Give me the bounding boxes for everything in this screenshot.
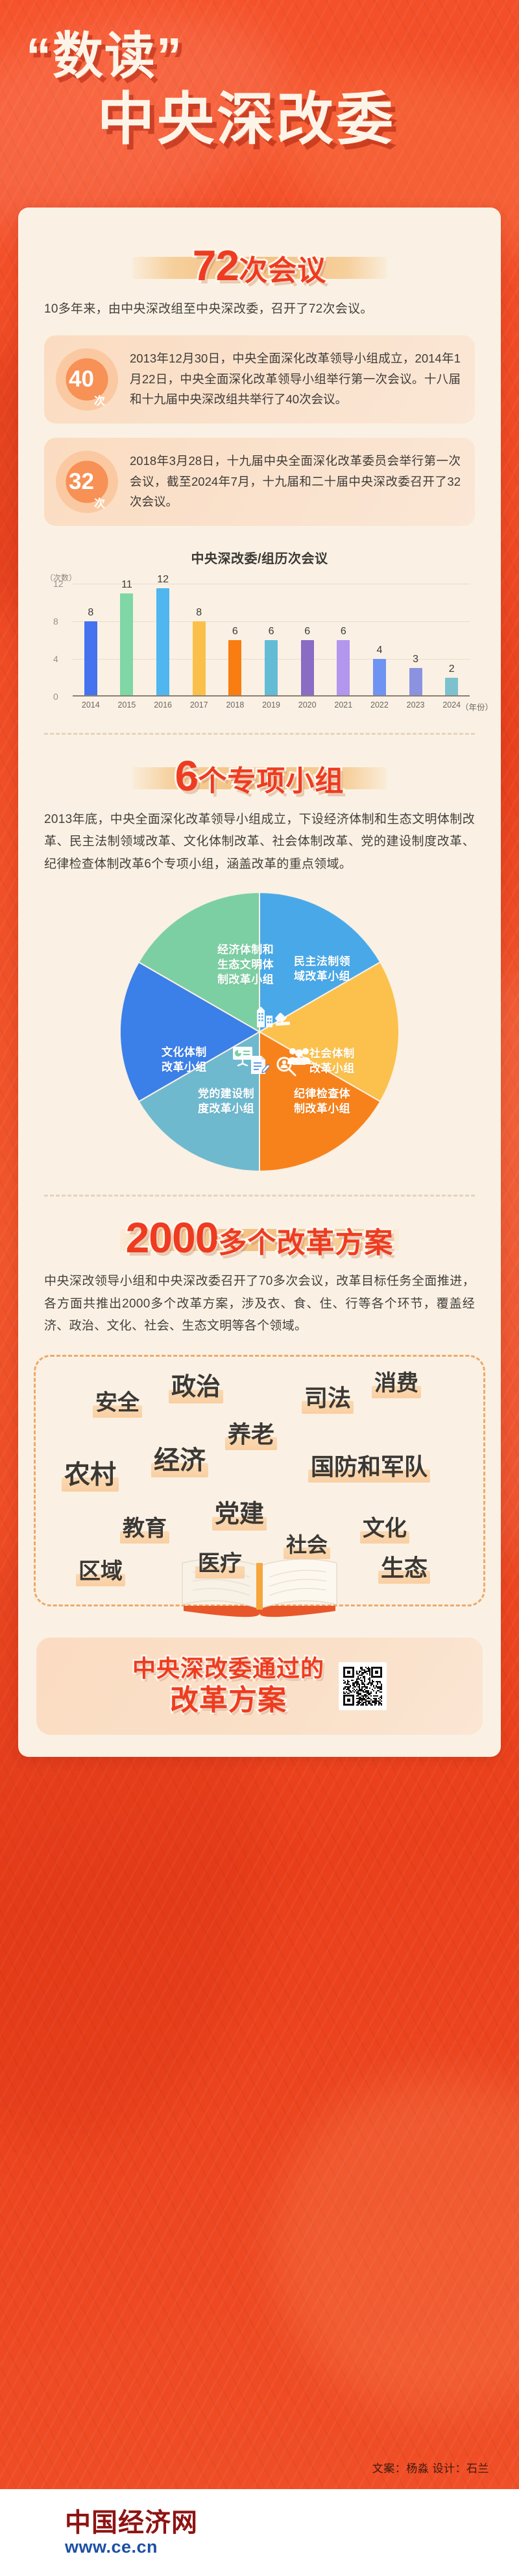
chart-bar <box>120 593 133 697</box>
reform-domain-tag-cloud: 安全政治司法消费养老经济农村国防和军队党建教育文化社会医疗区域生态 <box>34 1355 485 1606</box>
meetings-banner-suffix: 次会议 <box>239 255 326 287</box>
chart-bar <box>409 668 422 696</box>
chart-title: 中央深改委/组历次会议 <box>44 548 475 567</box>
chart-y-tick-label: 4 <box>53 654 58 664</box>
plans-banner-suffix: 多个改革方案 <box>218 1227 393 1259</box>
chart-bar-value-label: 2 <box>449 664 455 674</box>
meetings-paragraph: 10多年来，由中央深改组至中央深改委，召开了72次会议。 <box>44 298 475 321</box>
chart-x-tick-label: 2022 <box>361 700 398 710</box>
chart-bar-slot: 2 <box>433 575 470 697</box>
chart-x-axis-labels: 2014201520162017201820192020202120222023… <box>73 700 470 710</box>
chart-x-tick-label: 2019 <box>253 700 289 710</box>
fact-text-40: 2013年12月30日，中央全面深化改革领导小组成立，2014年1月22日，中央… <box>130 348 461 410</box>
section-meetings: 72次会议 10多年来，由中央深改组至中央深改委，召开了72次会议。 40 次 … <box>18 224 501 710</box>
cta-text: 中央深改委通过的 改革方案 <box>132 1654 324 1718</box>
chart-bar-value-label: 4 <box>376 645 382 656</box>
reform-domain-tag[interactable]: 安全 <box>93 1390 142 1418</box>
meetings-banner: 72次会议 <box>44 224 475 298</box>
site-logo-url: www.ce.cn <box>65 2538 198 2556</box>
chart-plot-area: （次数） 04812 8111286666432 <box>73 575 470 697</box>
chart-bar-value-label: 8 <box>196 608 202 618</box>
chart-x-tick-label: 2016 <box>145 700 181 710</box>
groups-paragraph: 2013年底，中央全面深化改革领导小组成立，下设经济体制和生态文明体制改革、民主… <box>44 809 475 876</box>
chart-y-tick-label: 12 <box>53 578 64 589</box>
chart-bar-value-label: 6 <box>304 626 310 637</box>
section-groups: 6个专项小组 2013年底，中央全面深化改革领导小组成立，下设经济体制和生态文明… <box>18 735 501 1172</box>
section-plans: 2000多个改革方案 中央深改领导小组和中央深改委召开了70多次会议，改革目标任… <box>18 1197 501 1338</box>
plans-banner-number: 2000 <box>126 1213 219 1261</box>
groups-banner-text: 6个专项小组 <box>175 754 344 797</box>
groups-banner: 6个专项小组 <box>44 735 475 809</box>
fact-badge-unit: 次 <box>94 392 105 408</box>
chart-bar-slot: 12 <box>145 575 181 697</box>
meetings-bar-chart: 中央深改委/组历次会议 （次数） 04812 8111286666432 201… <box>44 548 475 710</box>
fact-text-32: 2018年3月28日，十九届中央全面深化改革委员会举行第一次会议，截至2024年… <box>130 451 461 512</box>
chart-bar <box>337 640 350 697</box>
groups-banner-number: 6 <box>175 752 199 800</box>
chart-y-tick-label: 8 <box>53 616 58 626</box>
silk-highlight-f <box>272 2075 519 2413</box>
chart-bar <box>373 659 386 697</box>
reform-domain-tag[interactable]: 社会 <box>284 1533 330 1559</box>
reform-domain-tag[interactable]: 区域 <box>76 1559 125 1586</box>
chart-x-tick-label: 2017 <box>181 700 217 710</box>
chart-x-tick-label: 2015 <box>109 700 145 710</box>
reform-domain-tag[interactable]: 医疗 <box>195 1551 245 1579</box>
chart-bar-value-label: 6 <box>269 626 274 637</box>
reform-domain-tag[interactable]: 教育 <box>120 1516 169 1544</box>
site-logo-name: 中国经济网 <box>65 2510 198 2536</box>
chart-bar <box>84 621 97 697</box>
chart-bar-value-label: 3 <box>413 654 418 665</box>
content-card: 72次会议 10多年来，由中央深改组至中央深改委，召开了72次会议。 40 次 … <box>18 208 501 1757</box>
chart-bars: 8111286666432 <box>73 575 470 697</box>
page-title-line-1: “数读” <box>26 31 519 80</box>
cta-line-2: 改革方案 <box>132 1683 324 1718</box>
meetings-banner-number: 72 <box>193 241 239 289</box>
chart-x-axis-unit: （年份） <box>461 700 493 713</box>
chart-bar-slot: 4 <box>361 575 398 697</box>
chart-bar <box>265 640 278 697</box>
chart-bar-slot: 11 <box>109 575 145 697</box>
reform-domain-tag[interactable]: 司法 <box>302 1385 354 1414</box>
page-footer: 中国经济网 www.ce.cn <box>0 2489 519 2576</box>
meetings-banner-text: 72次会议 <box>193 244 326 287</box>
cta-banner[interactable]: 中央深改委通过的 改革方案 <box>36 1638 483 1735</box>
chart-bar-value-label: 11 <box>121 580 132 590</box>
chart-bar-slot: 6 <box>253 575 289 697</box>
chart-y-tick-label: 0 <box>53 691 58 702</box>
reform-domain-tag[interactable]: 消费 <box>372 1371 421 1398</box>
chart-bar-slot: 8 <box>181 575 217 697</box>
chart-x-axis-line <box>73 695 470 697</box>
chart-bar-slot: 6 <box>217 575 254 697</box>
chart-bar-slot: 6 <box>325 575 361 697</box>
reform-domain-tag[interactable]: 生态 <box>378 1555 430 1584</box>
reform-domain-tag[interactable]: 农村 <box>62 1461 119 1492</box>
poster-header: “数读” 中央深改委 <box>0 0 519 208</box>
chart-bar <box>193 621 206 697</box>
reform-domain-tag[interactable]: 国防和军队 <box>308 1454 430 1483</box>
chart-bar-value-label: 8 <box>88 608 93 618</box>
chart-bar <box>228 640 241 697</box>
fact-badge-40: 40 次 <box>56 348 118 411</box>
reform-domain-tag[interactable]: 经济 <box>151 1446 208 1477</box>
chart-bar-slot: 6 <box>289 575 326 697</box>
fact-badge-32: 32 次 <box>56 451 118 513</box>
chart-bar-value-label: 6 <box>341 626 346 637</box>
credits-line: 文案：杨淼 设计：石兰 <box>372 2459 489 2475</box>
chart-x-tick-label: 2018 <box>217 700 254 710</box>
reform-domain-tag[interactable]: 政治 <box>169 1374 223 1403</box>
qr-code[interactable] <box>339 1662 387 1710</box>
plans-banner-text: 2000多个改革方案 <box>126 1216 394 1259</box>
groups-banner-suffix: 个专项小组 <box>198 765 344 797</box>
chart-bar-value-label: 6 <box>232 626 238 637</box>
fact-card-40: 40 次 2013年12月30日，中央全面深化改革领导小组成立，2014年1月2… <box>44 335 475 423</box>
chart-x-tick-label: 2021 <box>325 700 361 710</box>
reform-domain-tag[interactable]: 文化 <box>360 1516 409 1544</box>
site-logo[interactable]: 中国经济网 www.ce.cn <box>65 2510 198 2556</box>
plans-banner: 2000多个改革方案 <box>44 1197 475 1270</box>
cta-line-1: 中央深改委通过的 <box>132 1654 324 1683</box>
chart-bar-slot: 3 <box>398 575 434 697</box>
fact-badge-number: 32 <box>69 470 94 493</box>
poster-background: “数读” 中央深改委 72次会议 10多年来，由中央深改组至中央深改委，召开了7… <box>0 0 519 2489</box>
chart-bar <box>445 678 458 697</box>
chart-x-tick-label: 2020 <box>289 700 326 710</box>
chart-x-tick-label: 2023 <box>398 700 434 710</box>
groups-pie-chart: 经济体制和生态文明体制改革小组民主法制领域改革小组社会体制改革小组纪律检查体制改… <box>120 892 399 1171</box>
fact-badge-unit: 次 <box>94 494 105 510</box>
reform-domain-tag[interactable]: 党建 <box>212 1501 267 1531</box>
page-title-line-2: 中央深改委 <box>97 91 519 148</box>
chart-bar <box>301 640 314 697</box>
plans-paragraph: 中央深改领导小组和中央深改委召开了70多次会议，改革目标任务全面推进，各方面共推… <box>44 1270 475 1338</box>
reform-domain-tag[interactable]: 养老 <box>225 1422 277 1450</box>
chart-bar-slot: 8 <box>73 575 109 697</box>
fact-badge-number: 40 <box>69 368 94 390</box>
chart-bar-value-label: 12 <box>157 575 169 585</box>
fact-card-32: 32 次 2018年3月28日，十九届中央全面深化改革委员会举行第一次会议，截至… <box>44 438 475 526</box>
pie-slices <box>120 892 399 1171</box>
chart-x-tick-label: 2014 <box>73 700 109 710</box>
chart-bar <box>156 588 169 697</box>
